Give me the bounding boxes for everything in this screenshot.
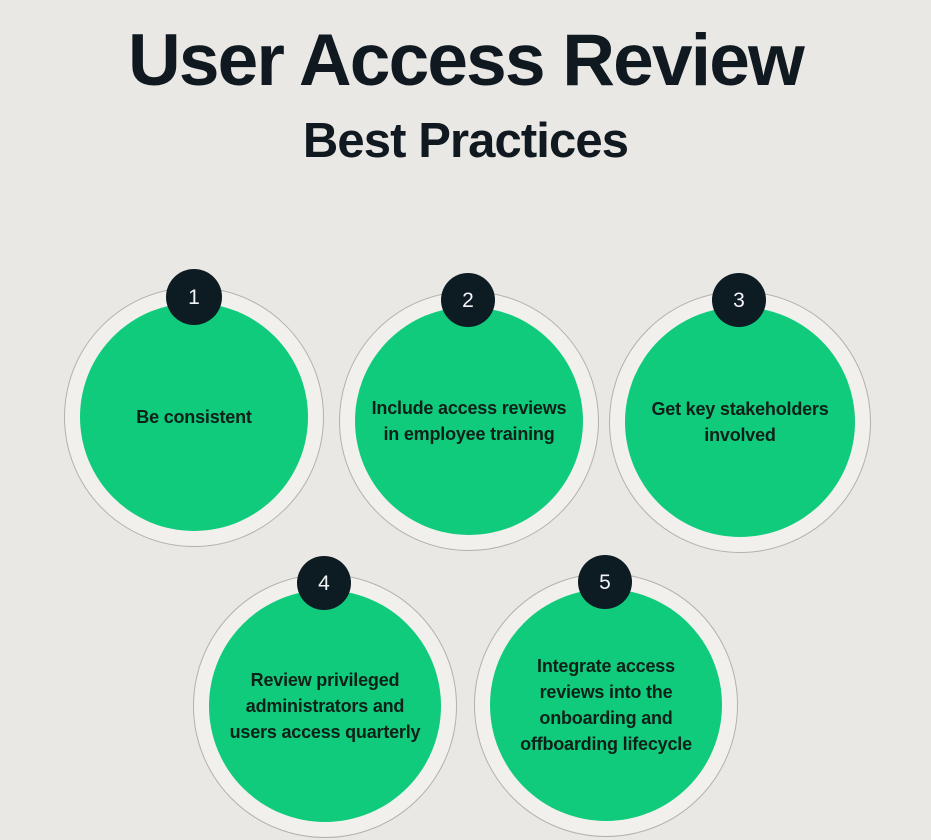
practice-label-2: Include access reviews in employee train… xyxy=(355,395,583,447)
practice-circle-1[interactable]: Be consistent xyxy=(80,303,308,531)
practice-label-5: Integrate access reviews into the onboar… xyxy=(490,653,722,757)
header: User Access Review Best Practices xyxy=(0,0,931,166)
step-badge-3: 3 xyxy=(712,273,766,327)
step-number-1: 1 xyxy=(188,287,200,308)
practice-label-4: Review privileged administrators and use… xyxy=(209,667,441,745)
step-number-5: 5 xyxy=(599,572,611,593)
page-subtitle: Best Practices xyxy=(0,117,931,166)
practice-circle-3[interactable]: Get key stakeholders involved xyxy=(625,307,855,537)
step-number-2: 2 xyxy=(462,290,474,311)
step-number-4: 4 xyxy=(318,573,330,594)
step-number-3: 3 xyxy=(733,290,745,311)
practice-circle-5[interactable]: Integrate access reviews into the onboar… xyxy=(490,589,722,821)
practice-circle-2[interactable]: Include access reviews in employee train… xyxy=(355,307,583,535)
step-badge-2: 2 xyxy=(441,273,495,327)
step-badge-1: 1 xyxy=(166,269,222,325)
practice-label-1: Be consistent xyxy=(122,404,265,430)
step-badge-5: 5 xyxy=(578,555,632,609)
practice-circle-4[interactable]: Review privileged administrators and use… xyxy=(209,590,441,822)
infographic-canvas: User Access Review Best Practices Be con… xyxy=(0,0,931,840)
step-badge-4: 4 xyxy=(297,556,351,610)
page-title: User Access Review xyxy=(0,24,931,97)
practice-label-3: Get key stakeholders involved xyxy=(625,396,855,448)
